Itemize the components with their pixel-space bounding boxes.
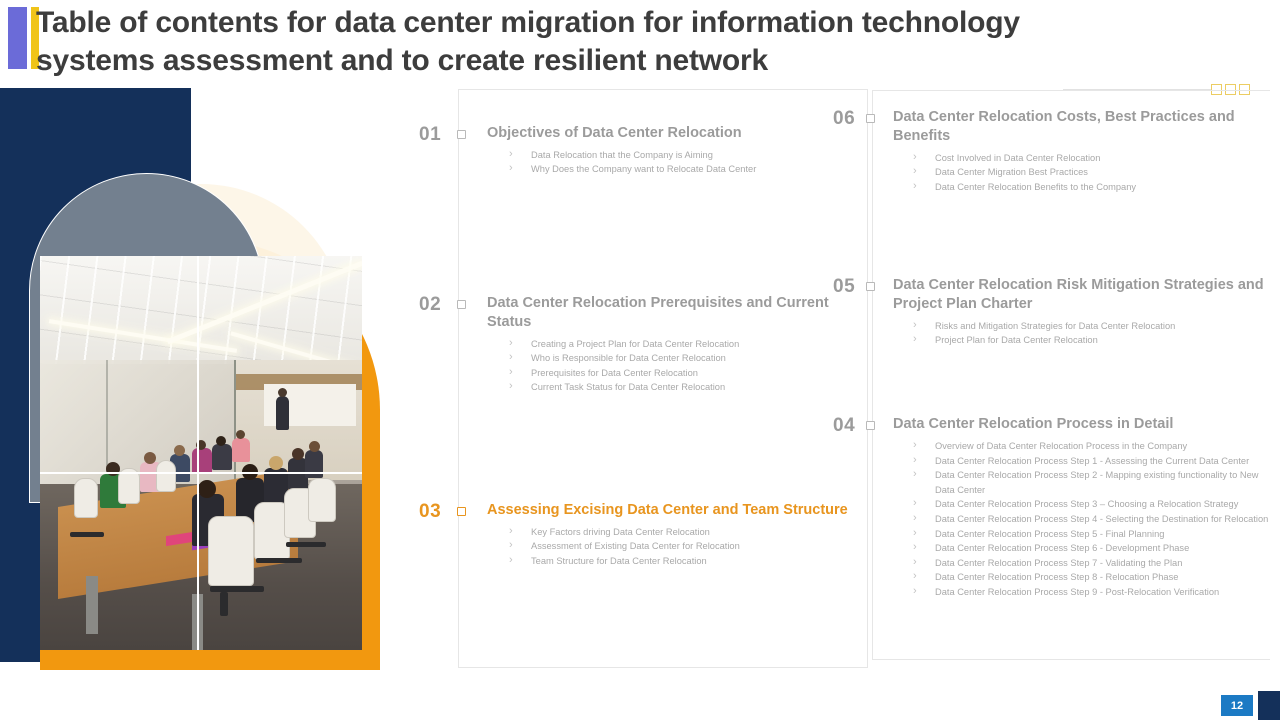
toc-entry-number: 01: [419, 124, 441, 146]
list-item: Who is Responsible for Data Center Reloc…: [509, 351, 849, 365]
title-accent-bar-purple: [8, 7, 27, 69]
toc-entry-heading: Assessing Excising Data Center and Team …: [487, 501, 849, 520]
list-item: Data Center Relocation Process Step 2 - …: [913, 468, 1273, 497]
list-item: Cost Involved in Data Center Relocation: [913, 151, 1273, 165]
toc-entry-04[interactable]: 04 Data Center Relocation Process in Det…: [833, 415, 1273, 600]
toc-entry-number: 03: [419, 501, 441, 523]
list-item: Risks and Mitigation Strategies for Data…: [913, 319, 1273, 333]
checkbox-icon[interactable]: [866, 421, 875, 430]
list-item: Creating a Project Plan for Data Center …: [509, 337, 849, 351]
list-item: Project Plan for Data Center Relocation: [913, 333, 1273, 347]
checkbox-icon[interactable]: [457, 507, 466, 516]
page-title: Table of contents for data center migrat…: [36, 4, 1146, 80]
checkbox-icon[interactable]: [866, 282, 875, 291]
photo-frame-corner: [40, 256, 198, 472]
page-number-badge: 12: [1221, 695, 1253, 716]
footer-accent-block: [1258, 691, 1280, 720]
toc-entry-items: Overview of Data Center Relocation Proce…: [913, 439, 1273, 600]
list-item: Team Structure for Data Center Relocatio…: [509, 554, 849, 568]
toc-entry-number: 05: [833, 276, 855, 298]
list-item: Key Factors driving Data Center Relocati…: [509, 525, 849, 539]
toc-entry-items: Creating a Project Plan for Data Center …: [509, 337, 849, 394]
toc-entry-heading: Objectives of Data Center Relocation: [487, 124, 849, 143]
list-item: Data Center Relocation Process Step 8 - …: [913, 570, 1273, 585]
slide-canvas: Table of contents for data center migrat…: [0, 0, 1280, 720]
list-item: Data Center Relocation Process Step 6 - …: [913, 541, 1273, 556]
toc-entry-number: 06: [833, 108, 855, 130]
toc-entry-number: 02: [419, 294, 441, 316]
toc-entry-number: 04: [833, 415, 855, 437]
list-item: Data Center Relocation Process Step 9 - …: [913, 585, 1273, 600]
left-graphic-composition: [0, 88, 400, 680]
checkbox-icon[interactable]: [866, 114, 875, 123]
checkbox-icon[interactable]: [457, 300, 466, 309]
toc-entry-06[interactable]: 06 Data Center Relocation Costs, Best Pr…: [833, 108, 1273, 194]
toc-entry-items: Cost Involved in Data Center Relocation …: [913, 151, 1273, 194]
toc-entry-items: Data Relocation that the Company is Aimi…: [509, 148, 849, 177]
list-item: Data Relocation that the Company is Aimi…: [509, 148, 849, 162]
toc-entry-heading: Data Center Relocation Costs, Best Pract…: [893, 108, 1273, 146]
toc-entry-01[interactable]: 01 Objectives of Data Center Relocation …: [419, 124, 849, 177]
toc-entry-02[interactable]: 02 Data Center Relocation Prerequisites …: [419, 294, 849, 394]
list-item: Data Center Relocation Benefits to the C…: [913, 180, 1273, 194]
toc-entry-05[interactable]: 05 Data Center Relocation Risk Mitigatio…: [833, 276, 1273, 348]
list-item: Current Task Status for Data Center Relo…: [509, 380, 849, 394]
toc-entry-items: Key Factors driving Data Center Relocati…: [509, 525, 849, 568]
checkbox-icon[interactable]: [457, 130, 466, 139]
toc-entry-heading: Data Center Relocation Prerequisites and…: [487, 294, 849, 332]
list-item: Data Center Relocation Process Step 4 - …: [913, 512, 1273, 527]
list-item: Data Center Relocation Process Step 3 – …: [913, 497, 1273, 512]
list-item: Why Does the Company want to Relocate Da…: [509, 162, 849, 176]
list-item: Data Center Migration Best Practices: [913, 165, 1273, 179]
list-item: Prerequisites for Data Center Relocation: [509, 366, 849, 380]
list-item: Overview of Data Center Relocation Proce…: [913, 439, 1273, 454]
toc-entry-heading: Data Center Relocation Process in Detail: [893, 415, 1273, 434]
toc-entry-03[interactable]: 03 Assessing Excising Data Center and Te…: [419, 501, 849, 568]
list-item: Data Center Relocation Process Step 5 - …: [913, 527, 1273, 542]
meeting-room-photo: [40, 256, 362, 650]
toc-entry-heading: Data Center Relocation Risk Mitigation S…: [893, 276, 1273, 314]
list-item: Data Center Relocation Process Step 7 - …: [913, 556, 1273, 571]
list-item: Data Center Relocation Process Step 1 - …: [913, 454, 1273, 469]
toc-entry-items: Risks and Mitigation Strategies for Data…: [913, 319, 1273, 348]
list-item: Assessment of Existing Data Center for R…: [509, 539, 849, 553]
photo-guide-line-horizontal: [40, 472, 362, 474]
